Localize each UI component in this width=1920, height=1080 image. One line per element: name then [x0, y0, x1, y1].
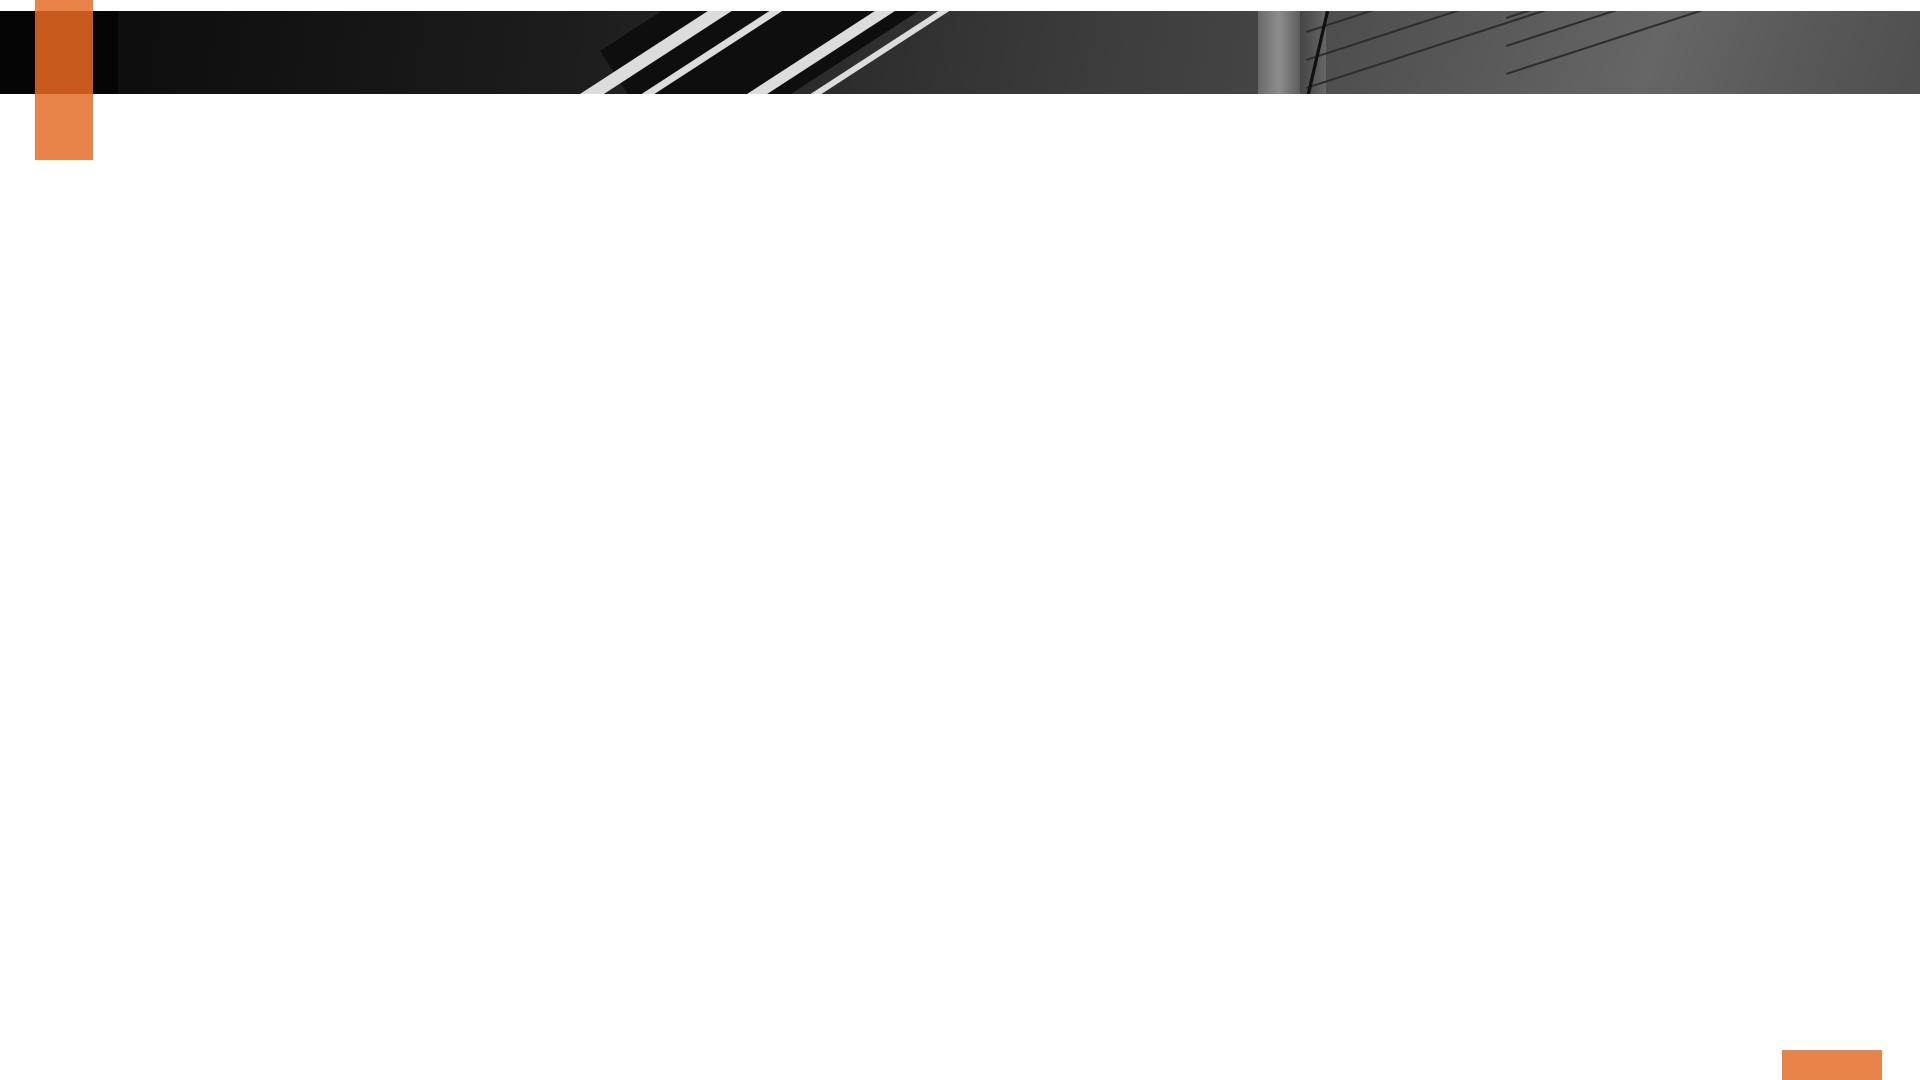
accent-bar-bottom-right	[1782, 1050, 1882, 1080]
slide-canvas	[0, 0, 1920, 1080]
photo-facade	[1326, 11, 1920, 94]
header-photo-band	[0, 11, 1920, 94]
photo-pillar	[1258, 11, 1300, 94]
accent-bar-top-overlap	[35, 11, 93, 94]
